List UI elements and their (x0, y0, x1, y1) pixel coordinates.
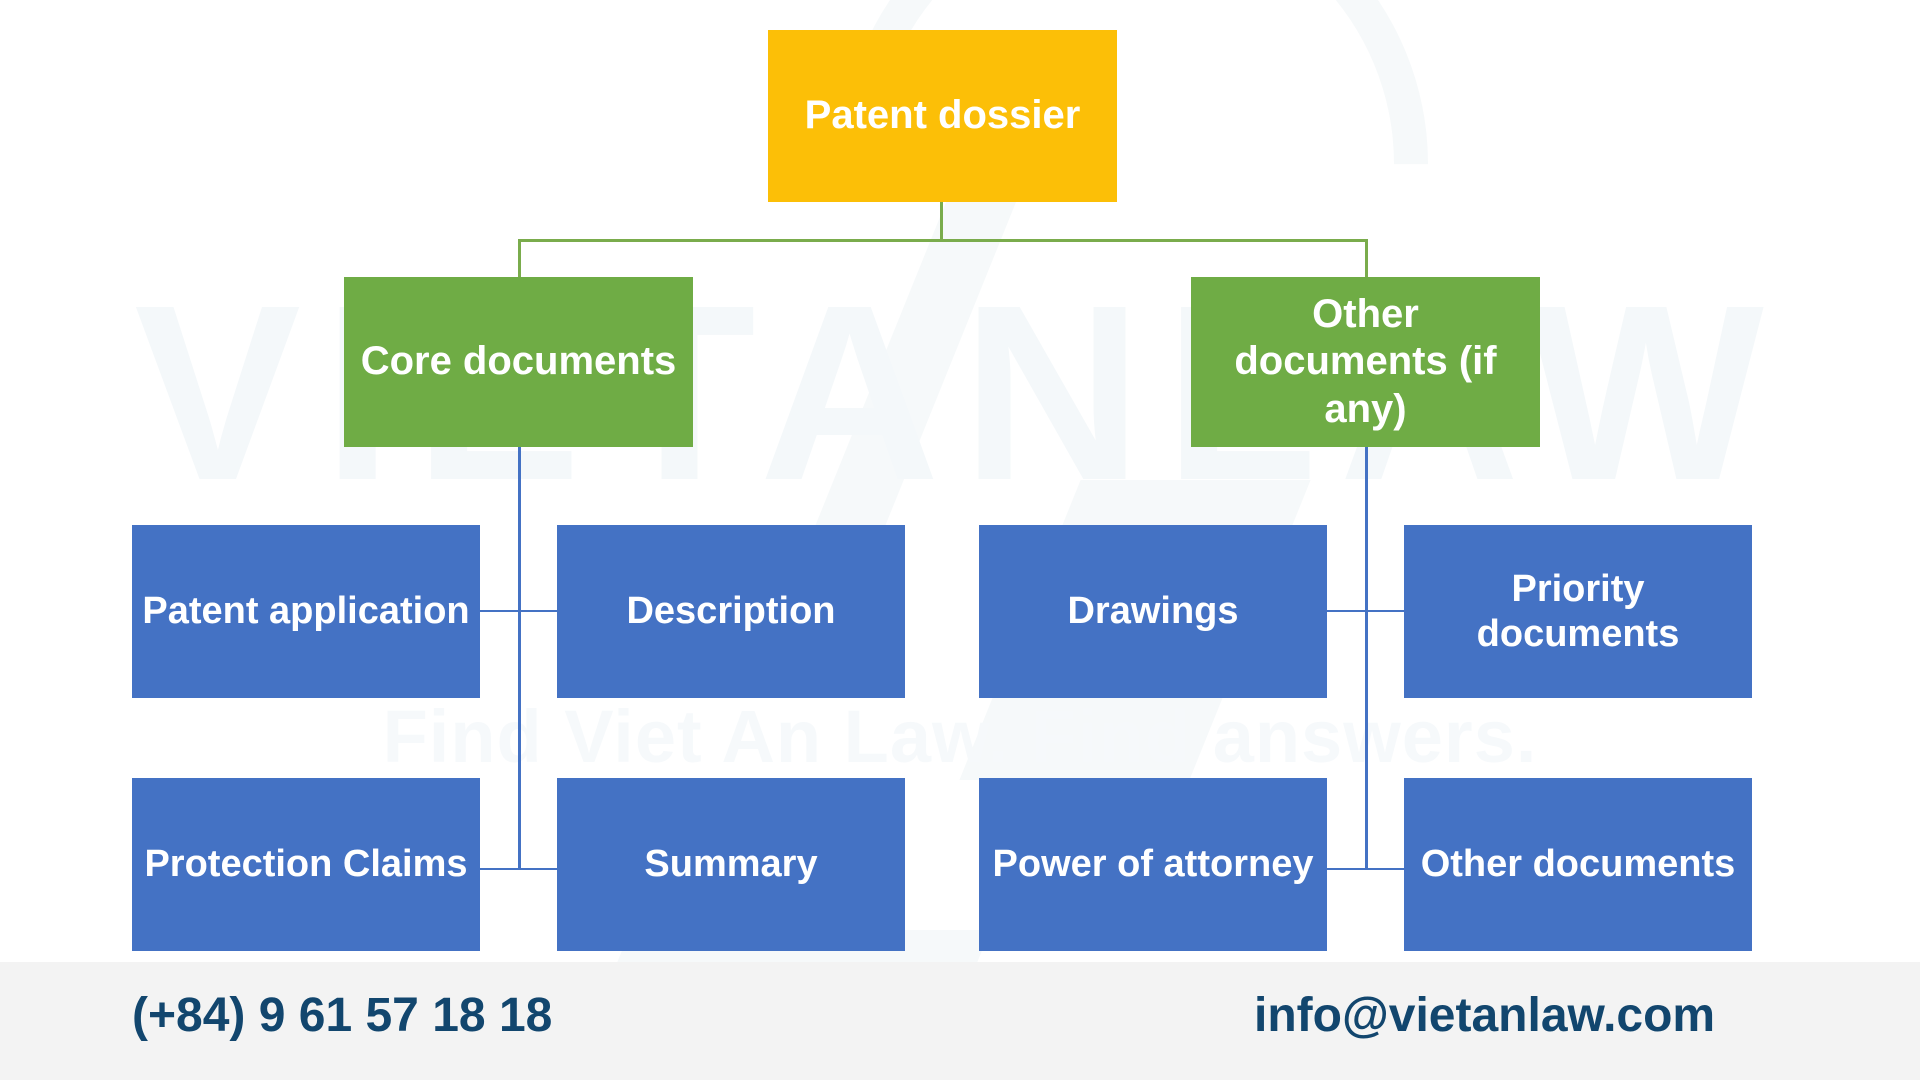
connector-left-row2-left (480, 868, 521, 870)
connector-right-row2-left (1327, 868, 1368, 870)
connector-left-row2-right (518, 868, 558, 870)
diagram-canvas: VIETANLAW Find Viet An Law. Find answers… (0, 0, 1920, 1080)
node-leaf-power-of-attorney[interactable]: Power of attorney (979, 778, 1327, 951)
connector-left-spine (518, 447, 521, 870)
footer-email-address[interactable]: info@vietanlaw.com (1254, 992, 1715, 1040)
node-leaf-patent-application[interactable]: Patent application (132, 525, 480, 698)
node-leaf-other-documents[interactable]: Other documents (1404, 778, 1752, 951)
footer-phone-number[interactable]: (+84) 9 61 57 18 18 (132, 992, 552, 1040)
connector-branch-drop-right (1365, 239, 1368, 278)
node-root-patent-dossier[interactable]: Patent dossier (768, 30, 1117, 202)
connector-right-row2-right (1365, 868, 1405, 870)
connector-right-spine (1365, 447, 1368, 870)
connector-branch-drop-left (518, 239, 521, 278)
node-leaf-protection-claims[interactable]: Protection Claims (132, 778, 480, 951)
connector-root-stem (940, 202, 943, 241)
connector-right-row1-left (1327, 610, 1368, 612)
node-leaf-description[interactable]: Description (557, 525, 905, 698)
connector-left-row1-left (480, 610, 521, 612)
connector-branch-horizontal (518, 239, 1368, 242)
node-leaf-drawings[interactable]: Drawings (979, 525, 1327, 698)
watermark-brand-text: VIETANLAW (0, 268, 1920, 518)
node-leaf-summary[interactable]: Summary (557, 778, 905, 951)
node-leaf-priority-documents[interactable]: Priority documents (1404, 525, 1752, 698)
connector-right-row1-right (1365, 610, 1405, 612)
watermark-tagline-text: Find Viet An Law. Find answers. (0, 700, 1920, 774)
connector-left-row1-right (518, 610, 558, 612)
node-branch-other-documents[interactable]: Other documents (if any) (1191, 277, 1540, 447)
node-branch-core-documents[interactable]: Core documents (344, 277, 693, 447)
